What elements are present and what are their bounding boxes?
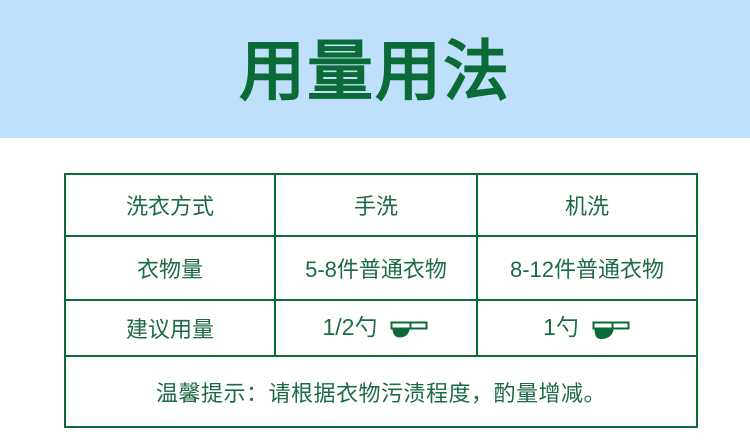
dose-hand-group: 1/2勺: [323, 316, 430, 340]
dose-machine-text: 1勺: [543, 316, 579, 339]
cell-tip-text: 温馨提示：请根据衣物污渍程度，酌量增减。: [65, 356, 697, 427]
usage-table: 洗衣方式 手洗 机洗 衣物量 5-8件普通衣物 8-12件普通衣物 建议用量 1…: [64, 173, 698, 428]
page-title: 用量用法: [239, 38, 511, 104]
cell-recommended-dose-machine: 1勺: [477, 300, 697, 356]
cell-wash-method-hand: 手洗: [275, 174, 477, 236]
table-row-wash-method: 洗衣方式 手洗 机洗: [65, 174, 697, 236]
dose-machine-group: 1勺: [543, 316, 631, 340]
table-row-garment-amount: 衣物量 5-8件普通衣物 8-12件普通衣物: [65, 236, 697, 300]
table-row-tip: 温馨提示：请根据衣物污渍程度，酌量增减。: [65, 356, 697, 427]
table-row-recommended-dose: 建议用量 1/2勺: [65, 300, 697, 356]
cell-recommended-dose-hand: 1/2勺: [275, 300, 477, 356]
cell-wash-method-label: 洗衣方式: [65, 174, 275, 236]
cell-wash-method-machine: 机洗: [477, 174, 697, 236]
header-banner: 用量用法: [0, 0, 750, 138]
cell-garment-amount-label: 衣物量: [65, 236, 275, 300]
full-spoon-icon: [591, 316, 631, 340]
cell-garment-amount-machine: 8-12件普通衣物: [477, 236, 697, 300]
cell-garment-amount-hand: 5-8件普通衣物: [275, 236, 477, 300]
usage-instructions-page: 用量用法 洗衣方式 手洗 机洗 衣物量 5-8件普通衣物 8-12件普通衣物 建…: [0, 0, 750, 442]
dose-hand-text: 1/2勺: [323, 316, 378, 339]
half-spoon-icon: [389, 316, 429, 340]
cell-recommended-dose-label: 建议用量: [65, 300, 275, 356]
usage-table-container: 洗衣方式 手洗 机洗 衣物量 5-8件普通衣物 8-12件普通衣物 建议用量 1…: [64, 173, 690, 418]
